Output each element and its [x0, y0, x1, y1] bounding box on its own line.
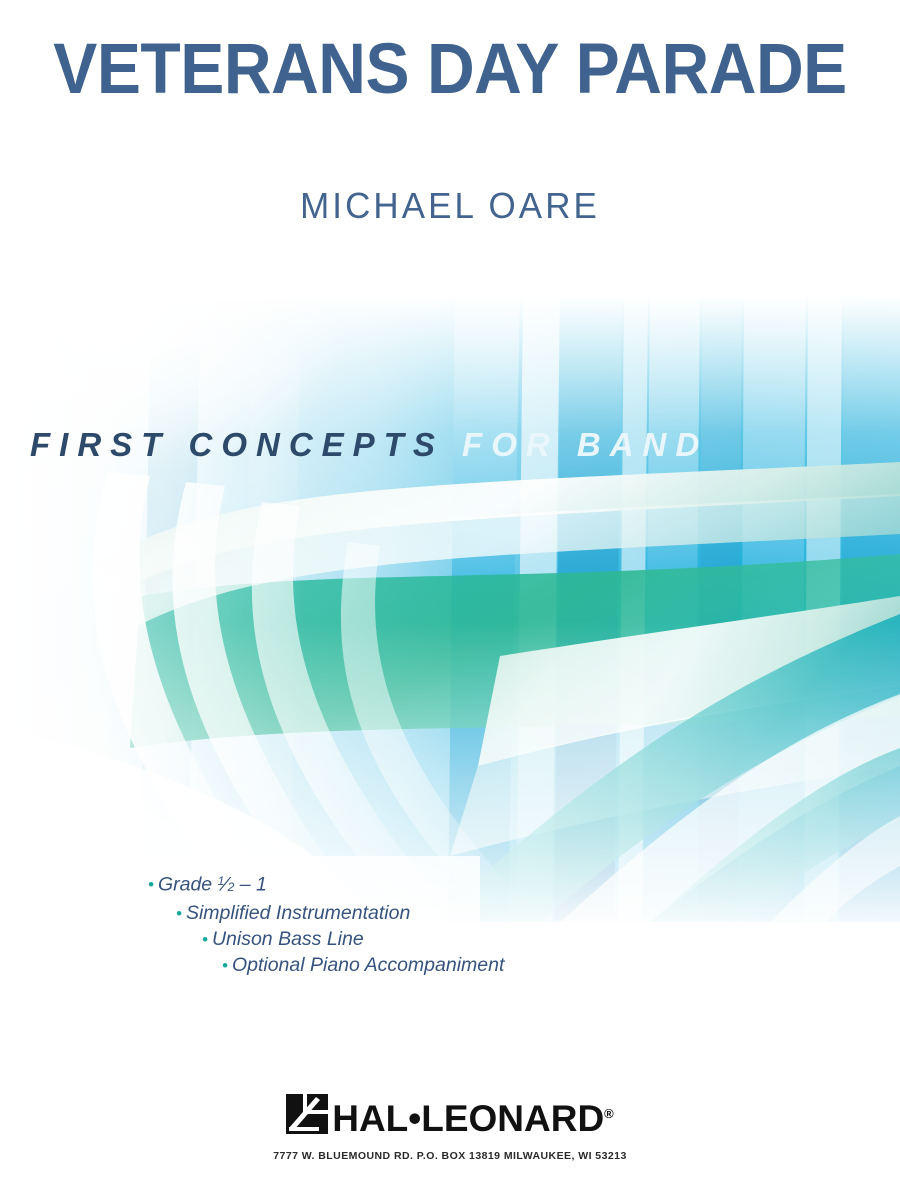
page-title: VETERANS DAY PARADE	[32, 34, 869, 105]
bullet-icon: •	[222, 956, 228, 975]
hal-leonard-mark-icon	[286, 1094, 328, 1138]
abstract-ribbons-svg	[0, 296, 900, 922]
feature-label: Simplified Instrumentation	[186, 902, 410, 924]
series-line: FIRST CONCEPTS FOR BAND	[30, 428, 708, 461]
list-item: •Unison Bass Line	[0, 926, 900, 952]
cover-page: VETERANS DAY PARADE MICHAEL OARE	[0, 0, 900, 1200]
publisher-address: 7777 W. BLUEMOUND RD. P.O. BOX 13819 MIL…	[0, 1150, 900, 1162]
bullet-icon: •	[202, 930, 208, 949]
cover-artwork	[0, 296, 900, 922]
feature-grade-prefix: Grade	[158, 873, 218, 895]
series-secondary: FOR BAND	[462, 426, 708, 463]
grade-fraction: 1⁄2	[218, 868, 235, 900]
list-item: •Simplified Instrumentation	[0, 900, 900, 926]
feature-list: •Grade 1⁄2 – 1 •Simplified Instrumentati…	[0, 868, 900, 978]
feature-label: Optional Piano Accompaniment	[232, 954, 504, 976]
bullet-icon: •	[148, 875, 154, 894]
bullet-icon: •	[176, 904, 182, 923]
hal-leonard-logo: HAL•LEONARD®	[286, 1093, 614, 1139]
publisher-name: HAL•LEONARD®	[332, 1100, 614, 1137]
fraction-denominator: 2	[228, 880, 235, 894]
fraction-numerator: 1	[218, 874, 225, 888]
publisher-footer: HAL•LEONARD® 7777 W. BLUEMOUND RD. P.O. …	[0, 1093, 900, 1162]
feature-label: Unison Bass Line	[212, 928, 364, 950]
list-item: •Optional Piano Accompaniment	[0, 952, 900, 978]
feature-grade-suffix: – 1	[234, 873, 267, 895]
list-item: •Grade 1⁄2 – 1	[0, 868, 900, 900]
series-primary: FIRST CONCEPTS	[30, 426, 444, 463]
composer-name: MICHAEL OARE	[14, 185, 887, 227]
registered-mark: ®	[604, 1106, 614, 1121]
